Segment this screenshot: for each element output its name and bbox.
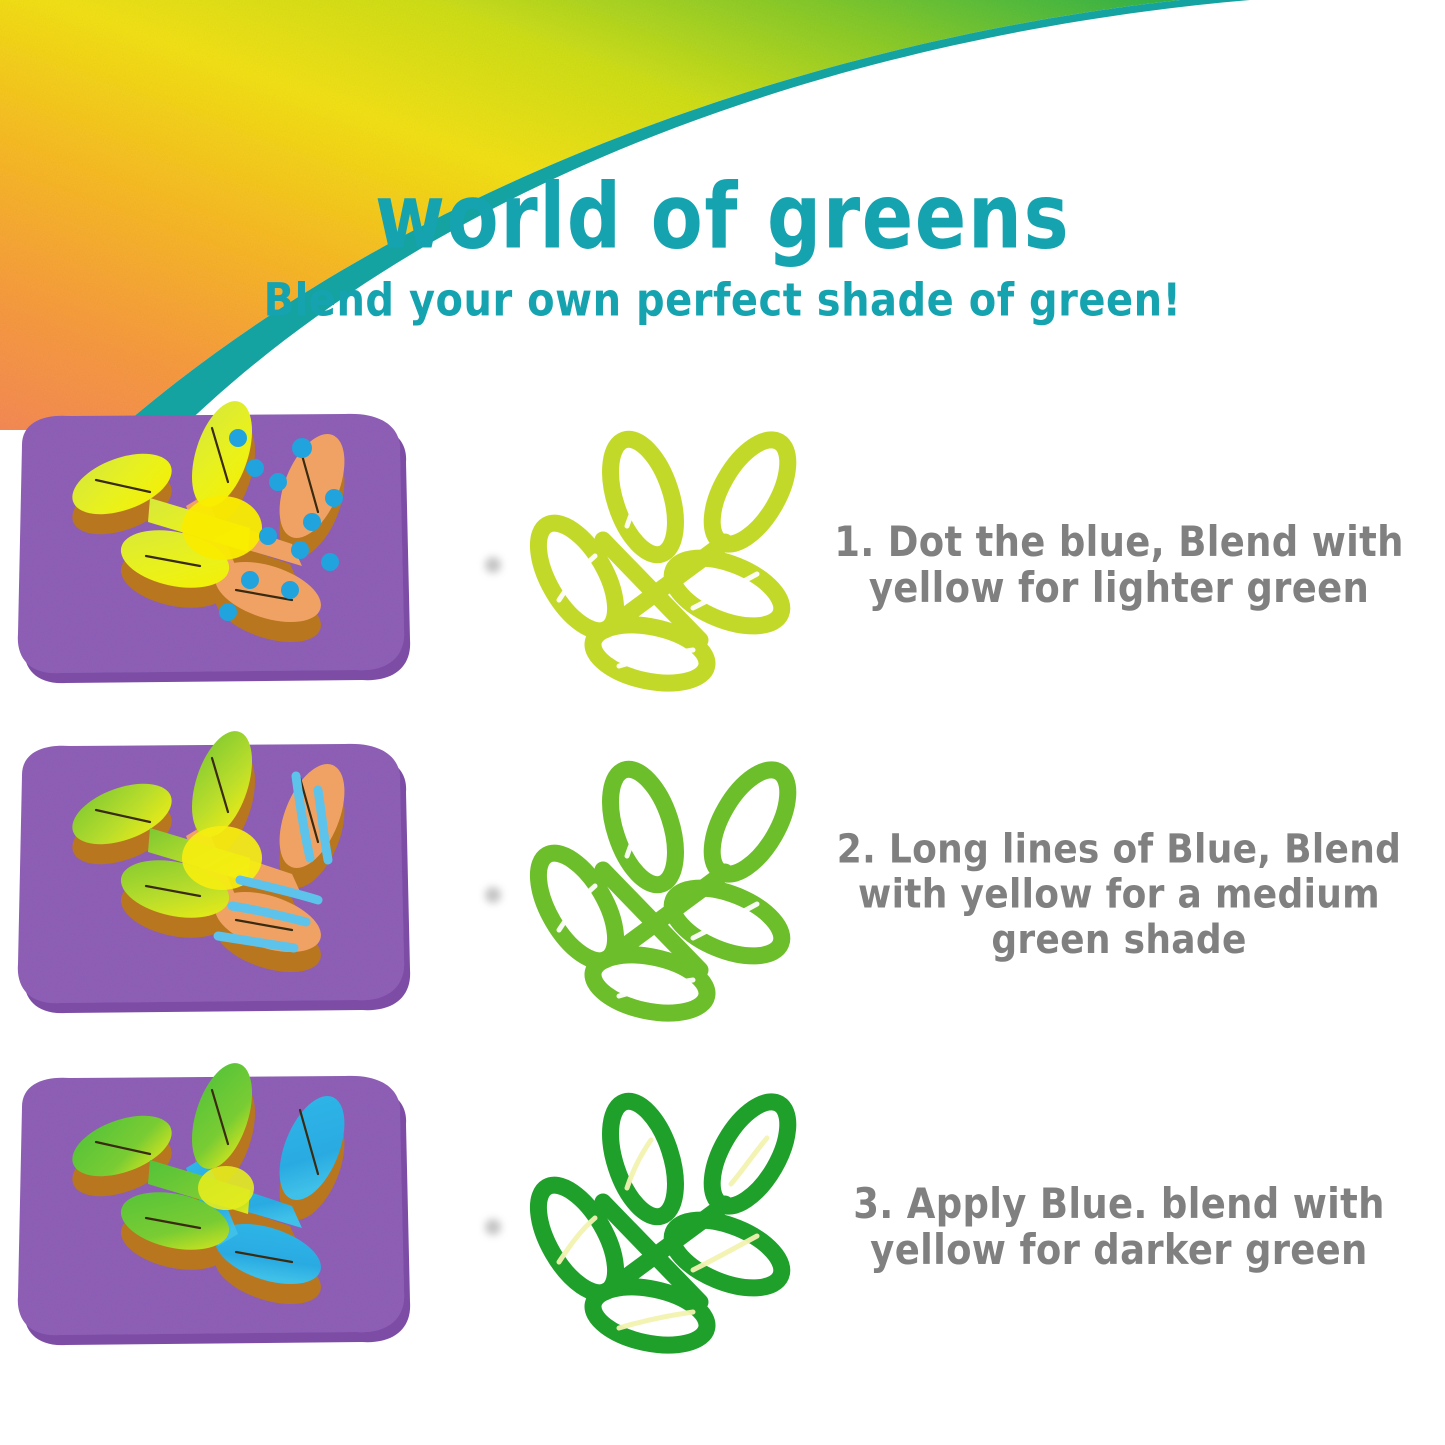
leaf-print-1 — [515, 400, 815, 730]
leaf-print-3 — [515, 1062, 815, 1392]
blur-dot-marker-icon — [485, 1219, 501, 1235]
step-row-2: 2. Long lines of Blue, Blend with yellow… — [0, 730, 1445, 1060]
foam-stamp-2-svg — [0, 730, 470, 1060]
step-instruction-2: 2. Long lines of Blue, Blend with yellow… — [815, 827, 1423, 962]
marker-cell-1 — [470, 400, 515, 730]
foam-stamp-1 — [0, 400, 470, 730]
foam-stamp-1-svg — [0, 400, 470, 730]
foam-stamp-2 — [0, 730, 470, 1060]
blur-dot-marker-icon — [485, 887, 501, 903]
leaf-print-1-svg — [515, 422, 815, 702]
marker-cell-3 — [470, 1062, 515, 1392]
step-text-cell-1: 1. Dot the blue, Blend with yellow for l… — [815, 400, 1445, 730]
page-subtitle: Blend your own perfect shade of green! — [0, 248, 1445, 323]
step-row-3: 3. Apply Blue. blend with yellow for dar… — [0, 1062, 1445, 1392]
header: world of greens Blend your own perfect s… — [0, 172, 1445, 314]
step-instruction-1: 1. Dot the blue, Blend with yellow for l… — [815, 519, 1423, 612]
leaf-print-2 — [515, 730, 815, 1060]
infographic-page: world of greens Blend your own perfect s… — [0, 0, 1445, 1445]
foam-stamp-3 — [0, 1062, 470, 1392]
marker-cell-2 — [470, 730, 515, 1060]
step-instruction-3: 3. Apply Blue. blend with yellow for dar… — [815, 1181, 1423, 1274]
step-text-cell-2: 2. Long lines of Blue, Blend with yellow… — [815, 730, 1445, 1060]
step-text-cell-3: 3. Apply Blue. blend with yellow for dar… — [815, 1062, 1445, 1392]
step-row-1: 1. Dot the blue, Blend with yellow for l… — [0, 400, 1445, 730]
leaf-print-2-svg — [515, 752, 815, 1032]
leaf-print-3-svg — [515, 1084, 815, 1364]
foam-stamp-3-svg — [0, 1062, 470, 1392]
blur-dot-marker-icon — [485, 557, 501, 573]
